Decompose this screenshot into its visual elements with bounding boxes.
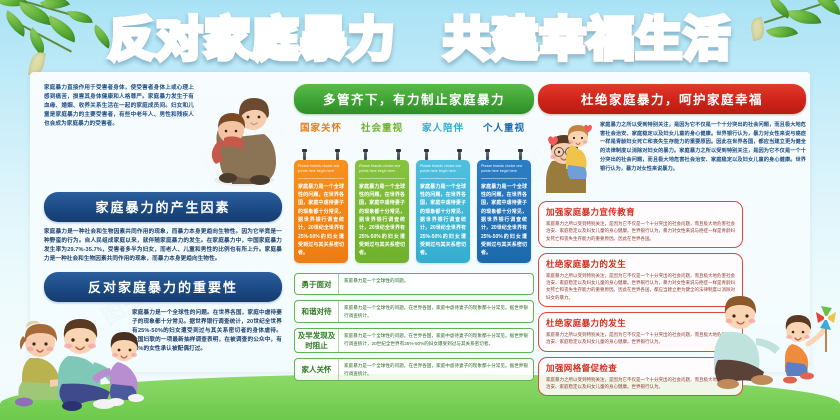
section-header-causes: 家庭暴力的产生因素 — [44, 192, 282, 222]
middle-header: 多管齐下，有力制止家庭暴力 — [294, 84, 534, 114]
card-title: 国家关怀 — [294, 123, 348, 151]
card-text: 家庭暴力是一个全球性的问题，在世界各国，家庭中虐待妻子的现象都十分常见，据世界银… — [481, 183, 527, 258]
clip-icon — [519, 151, 522, 160]
middle-column: 多管齐下，有力制止家庭暴力 国家关怀 Please brands choice … — [294, 84, 534, 381]
info-box-title: 加强家庭暴力宣传教育 — [546, 206, 735, 218]
list-item[interactable]: 及早发现及时阻止 家庭暴力是一个全球性的问题。在世界各国，家庭中虐待妻子的现象都… — [294, 328, 534, 353]
card-text: 家庭暴力是一个全球性的问题，在世界各国，家庭中虐待妻子的现象都十分常见，据世界银… — [420, 183, 466, 258]
title-part-1: 反对家庭暴力 — [108, 16, 396, 62]
card-head: Please brands choice one points here beg… — [420, 164, 466, 179]
right-intro-block: 家庭暴力之所以受到特别关注，是因为它不仅是一个十分突出的社会问题，而且极大地危害… — [538, 121, 806, 193]
list-item-text: 家庭暴力是一个全球性的问题。在世界各国，家庭中虐待妻子的现象都十分常见。据世界银… — [339, 301, 533, 322]
card-clips — [416, 151, 470, 160]
piggyback-illustration — [538, 121, 594, 193]
measure-card[interactable]: 个人重视 Please brands choice one points her… — [477, 123, 531, 263]
left-intro-block: 家庭暴力直接作用于受害者身体，使受害者身体上或心理上感到痛苦，损害其身体健康和人… — [44, 84, 282, 188]
card-body: Please brands choice one points here beg… — [294, 160, 348, 263]
right-intro-text: 家庭暴力之所以受到特别关注，是因为它不仅是一个十分突出的社会问题，而且极大地危害… — [600, 121, 806, 173]
card-text: 家庭暴力是一个全球性的问题，在世界各国，家庭中虐待妻子的现象都十分常见，据世界银… — [359, 183, 405, 258]
info-box-text: 家庭暴力之所以受到特别关注，是因为它不仅是一个十分突出的社会问题，而且极大地危害… — [546, 220, 735, 242]
info-box[interactable]: 加强家庭暴力宣传教育 家庭暴力之所以受到特别关注，是因为它不仅是一个十分突出的社… — [538, 201, 743, 248]
title-gap — [411, 16, 429, 62]
card-clips — [477, 151, 531, 160]
card-text: 家庭暴力是一个全球性的问题，在世界各国，家庭中虐待妻子的现象都十分常见，据世界银… — [298, 183, 344, 258]
measure-card[interactable]: 社会重视 Please brands choice one points her… — [355, 123, 409, 263]
left-intro-text: 家庭暴力直接作用于受害者身体，使受害者身体上或心理上感到痛苦，损害其身体健康和人… — [44, 84, 194, 129]
card-clips — [294, 151, 348, 160]
card-clips — [355, 151, 409, 160]
card-body: Please brands choice one points here beg… — [355, 160, 409, 263]
hug-illustration — [198, 86, 284, 186]
list-item[interactable]: 家人关怀 家庭暴力是一个全球性的问题。在世界各国，家庭中虐待妻子的现象都十分常见… — [294, 358, 534, 381]
action-list: 勇于面对 家庭暴力是一个全球性的问题。 和谐对待 家庭暴力是一个全球性的问题。在… — [294, 273, 534, 381]
father-child-illustration — [706, 288, 838, 396]
list-item-label: 勇于面对 — [295, 274, 339, 294]
card-title: 社会重视 — [355, 123, 409, 151]
card-title: 家人陪伴 — [416, 123, 470, 151]
measure-card[interactable]: 家人陪伴 Please brands choice one points her… — [416, 123, 470, 263]
card-body: Please brands choice one points here beg… — [477, 160, 531, 263]
list-item[interactable]: 勇于面对 家庭暴力是一个全球性的问题。 — [294, 273, 534, 295]
info-box-title: 杜绝家庭暴力的发生 — [546, 258, 735, 270]
family-illustration — [6, 300, 196, 414]
list-item-label: 及早发现及时阻止 — [295, 329, 339, 352]
clip-icon — [397, 151, 400, 160]
card-head: Please brands choice one points here beg… — [481, 164, 527, 179]
page-title: 反对家庭暴力 共建幸福生活 — [0, 16, 840, 62]
card-head: Please brands choice one points here beg… — [298, 164, 344, 179]
measure-cards: 国家关怀 Please brands choice one points her… — [294, 123, 534, 263]
clip-icon — [364, 151, 367, 160]
list-item[interactable]: 和谐对待 家庭暴力是一个全球性的问题。在世界各国，家庭中虐待妻子的现象都十分常见… — [294, 300, 534, 323]
card-body: Please brands choice one points here beg… — [416, 160, 470, 263]
section-text-causes: 家庭暴力是一种社会和生物因素共同作用的现象，而暴力本身更趋向生物性。因为它毕竟是… — [44, 228, 282, 264]
card-head: Please brands choice one points here beg… — [359, 164, 405, 179]
right-header: 杜绝家庭暴力，呵护家庭幸福 — [538, 84, 806, 114]
list-item-text: 家庭暴力是一个全球性的问题。 — [339, 274, 533, 294]
list-item-label: 和谐对待 — [295, 301, 339, 322]
list-item-text: 家庭暴力是一个全球性的问题。在世界各国，家庭中虐待妻子的现象都十分常见。据世界银… — [339, 359, 533, 380]
title-part-2: 共建幸福生活 — [444, 16, 732, 62]
list-item-label: 家人关怀 — [295, 359, 339, 380]
clip-icon — [458, 151, 461, 160]
clip-icon — [425, 151, 428, 160]
card-title: 个人重视 — [477, 123, 531, 151]
clip-icon — [336, 151, 339, 160]
clip-icon — [303, 151, 306, 160]
clip-icon — [486, 151, 489, 160]
list-item-text: 家庭暴力是一个全球性的问题。在世界各国，家庭中虐待妻子的现象都十分常见。据世界银… — [339, 329, 533, 352]
section-header-importance: 反对家庭暴力的重要性 — [44, 272, 282, 302]
measure-card[interactable]: 国家关怀 Please brands choice one points her… — [294, 123, 348, 263]
